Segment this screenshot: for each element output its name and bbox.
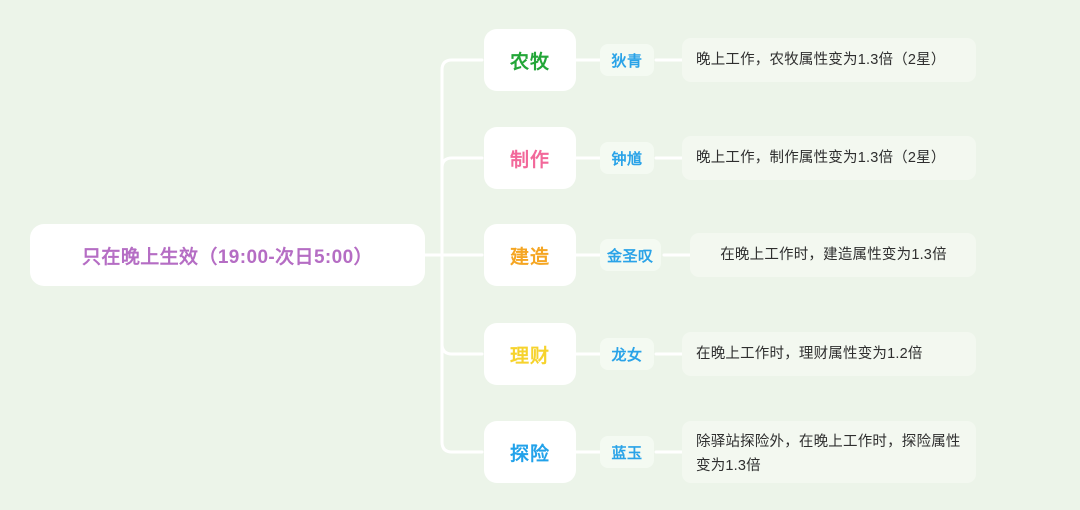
description-text: 在晚上工作时，理财属性变为1.2倍: [696, 342, 923, 366]
category-node-licai[interactable]: 理财: [484, 323, 576, 385]
person-label: 龙女: [611, 344, 642, 365]
branch-line-5: [442, 255, 482, 452]
category-label: 建造: [510, 242, 550, 269]
root-node[interactable]: 只在晚上生效（19:00-次日5:00）: [30, 224, 425, 286]
category-label: 理财: [510, 341, 550, 368]
root-node-label: 只在晚上生效（19:00-次日5:00）: [82, 242, 373, 269]
mindmap-canvas: 只在晚上生效（19:00-次日5:00） 农牧 狄青 晚上工作，农牧属性变为1.…: [0, 0, 1080, 510]
branch-line-1: [442, 60, 482, 255]
description-box-1: 晚上工作，农牧属性变为1.3倍（2星）: [682, 38, 976, 82]
description-box-3: 在晚上工作时，建造属性变为1.3倍: [690, 233, 976, 277]
description-text: 除驿站探险外，在晚上工作时，探险属性变为1.3倍: [696, 430, 963, 478]
description-box-5: 除驿站探险外，在晚上工作时，探险属性变为1.3倍: [682, 421, 976, 483]
person-chip-jinshengtan[interactable]: 金圣叹: [600, 239, 661, 271]
category-label: 制作: [510, 145, 550, 172]
person-label: 狄青: [611, 50, 642, 71]
person-chip-diqing[interactable]: 狄青: [600, 44, 654, 76]
person-chip-zhongkui[interactable]: 钟馗: [600, 142, 654, 174]
person-label: 钟馗: [611, 148, 642, 169]
category-label: 探险: [510, 439, 550, 466]
category-node-zhizuo[interactable]: 制作: [484, 127, 576, 189]
person-chip-lanyu[interactable]: 蓝玉: [600, 436, 654, 468]
category-node-nongmu[interactable]: 农牧: [484, 29, 576, 91]
category-node-tanxian[interactable]: 探险: [484, 421, 576, 483]
description-text: 在晚上工作时，建造属性变为1.3倍: [720, 243, 947, 267]
branch-line-2: [442, 158, 482, 255]
description-box-4: 在晚上工作时，理财属性变为1.2倍: [682, 332, 976, 376]
person-label: 蓝玉: [611, 442, 642, 463]
description-text: 晚上工作，制作属性变为1.3倍（2星）: [696, 146, 946, 170]
branch-line-4: [442, 255, 482, 354]
category-node-jianzao[interactable]: 建造: [484, 224, 576, 286]
description-box-2: 晚上工作，制作属性变为1.3倍（2星）: [682, 136, 976, 180]
description-text: 晚上工作，农牧属性变为1.3倍（2星）: [696, 48, 946, 72]
category-label: 农牧: [510, 47, 550, 74]
person-chip-longnv[interactable]: 龙女: [600, 338, 654, 370]
person-label: 金圣叹: [607, 245, 654, 266]
